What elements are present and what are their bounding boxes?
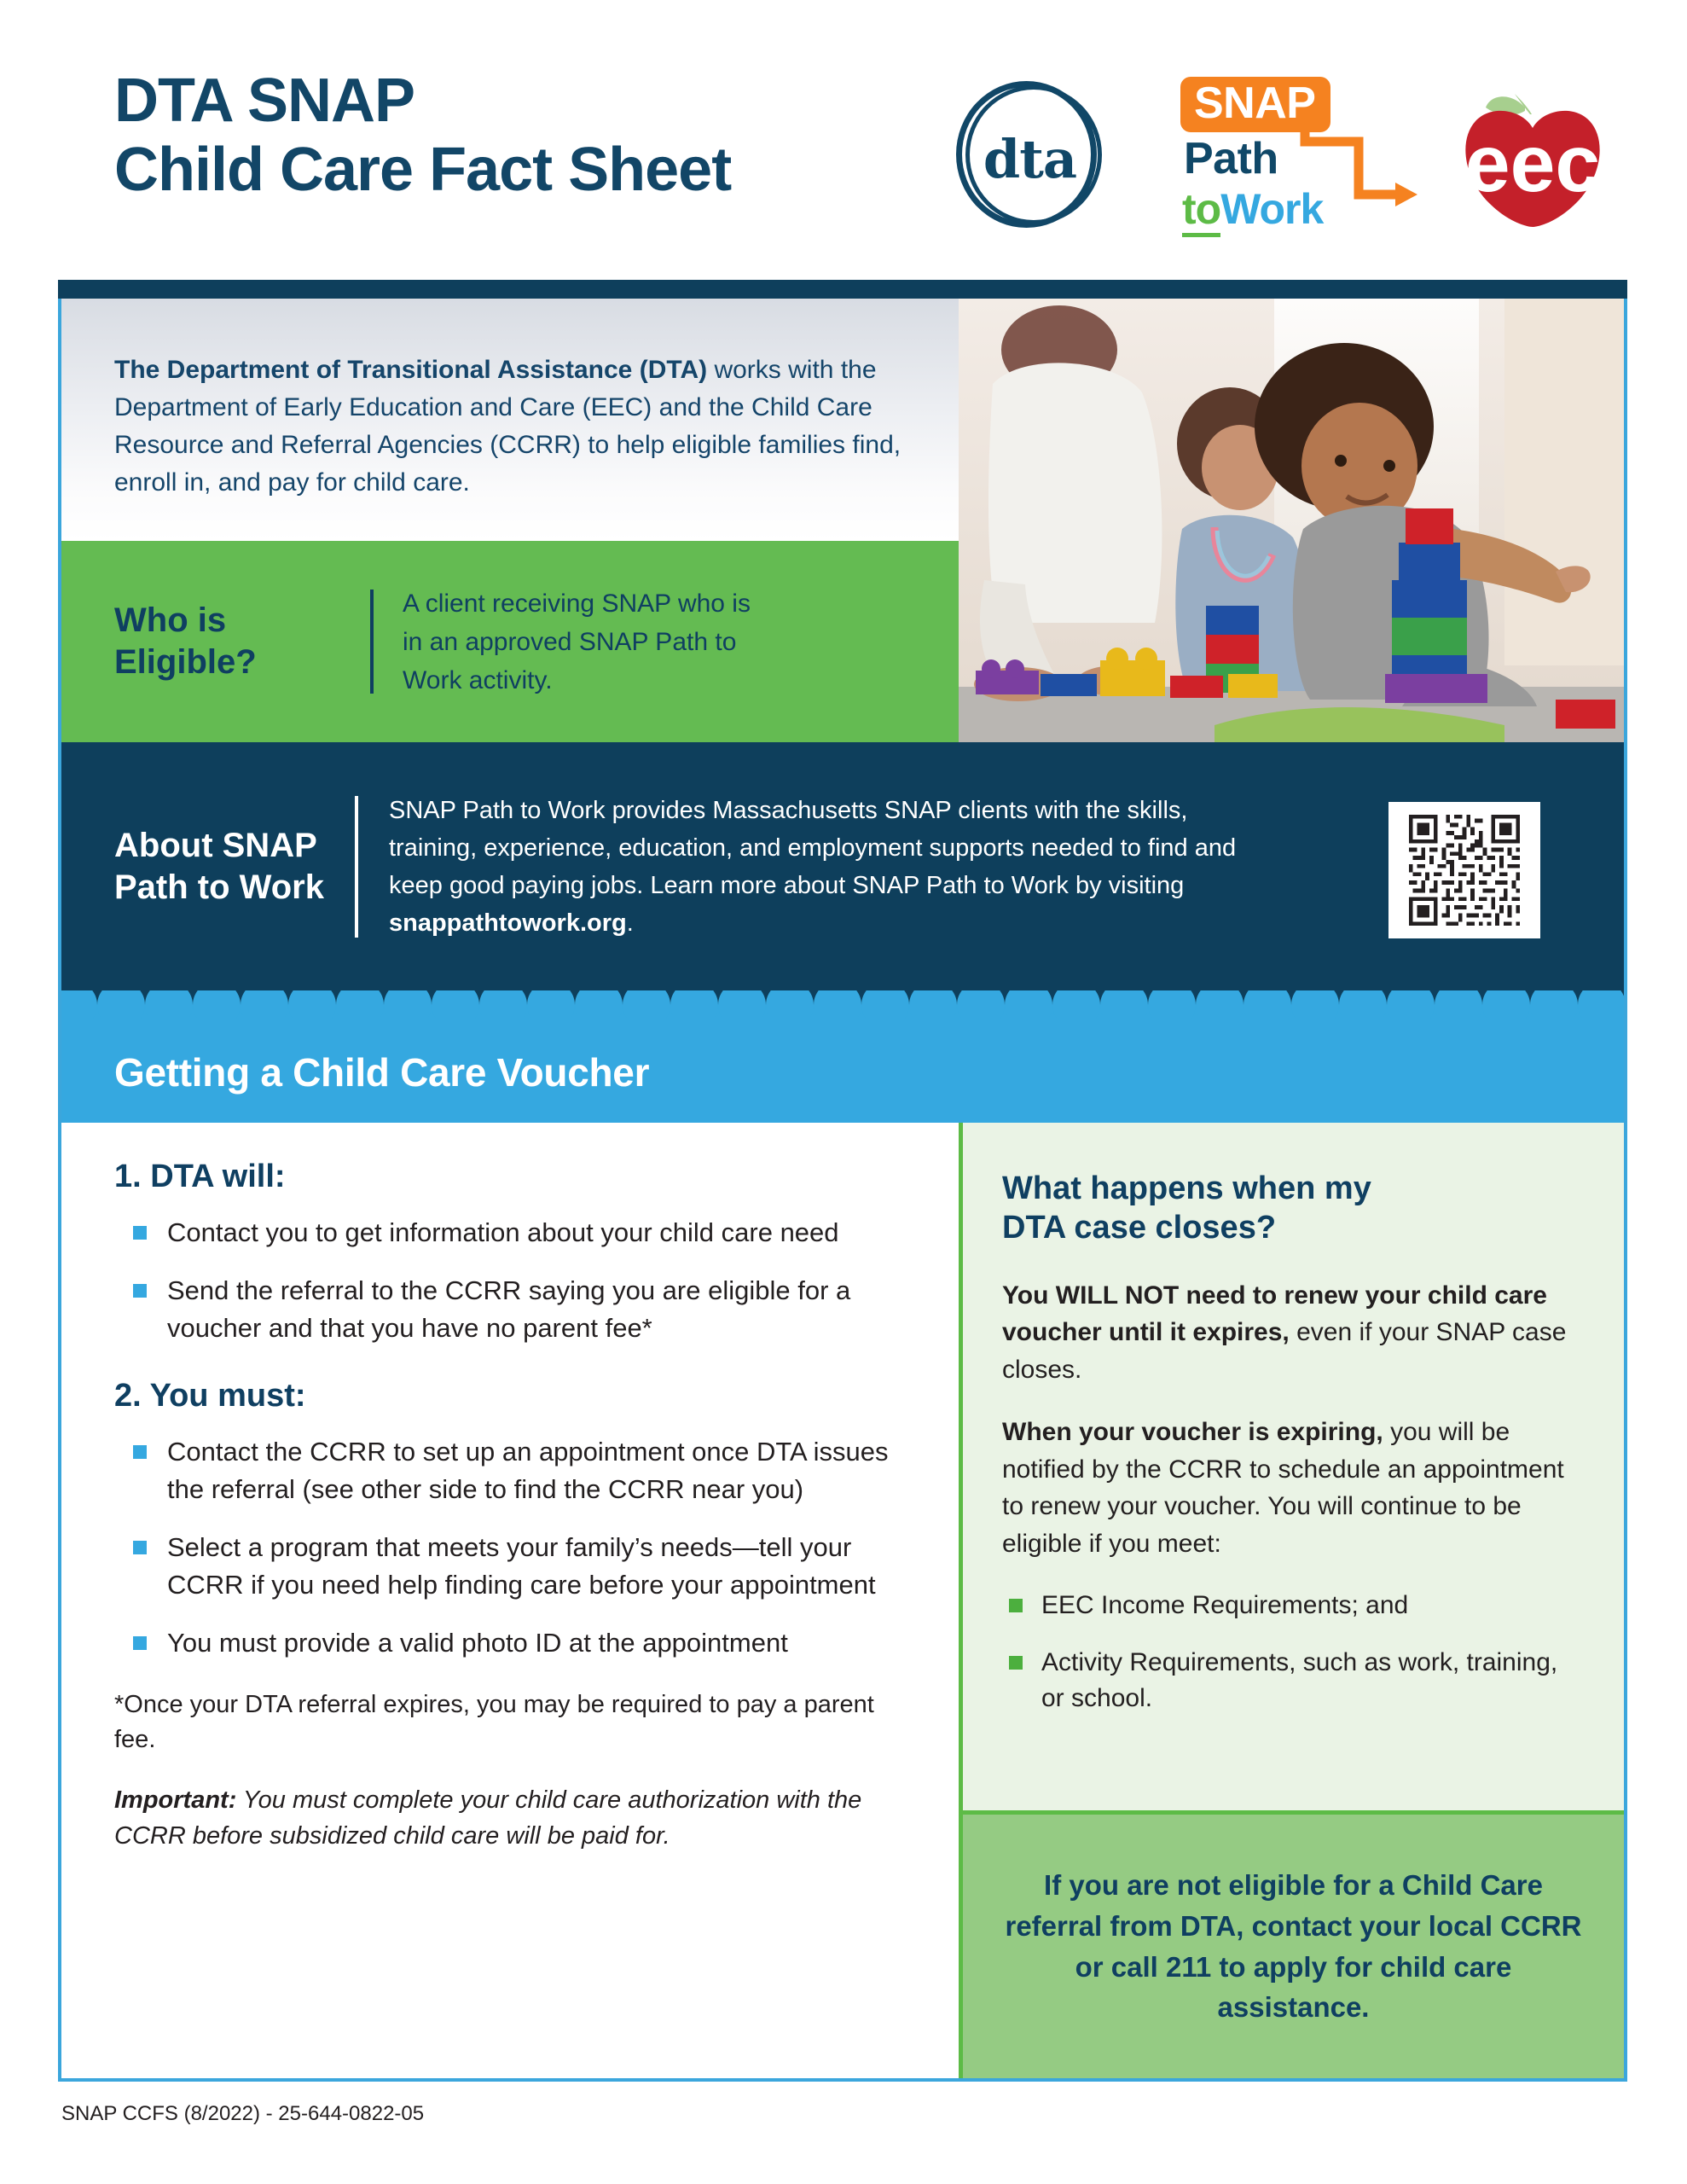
- about-link[interactable]: snappathtowork.org: [389, 909, 627, 937]
- photo-illustration: [959, 299, 1624, 742]
- intro-section: The Department of Transitional Assistanc…: [61, 299, 959, 541]
- title-line-2: Child Care Fact Sheet: [114, 136, 731, 205]
- snap-path-to-work-logo: SNAP Path toWork: [1175, 75, 1423, 237]
- eec-logo: eec: [1441, 77, 1625, 230]
- case-closes-paragraph-1: You WILL NOT need to renew your child ca…: [1002, 1277, 1585, 1389]
- qr-code[interactable]: [1388, 802, 1540, 938]
- page-header: DTA SNAP Child Care Fact Sheet dta SNAP …: [0, 0, 1687, 282]
- document-footer: SNAP CCFS (8/2022) - 25-644-0822-05: [61, 2102, 424, 2126]
- step-1-list: Contact you to get information about you…: [114, 1214, 919, 1347]
- list-item: EEC Income Requirements; and: [1002, 1588, 1585, 1624]
- about-body-before: SNAP Path to Work provides Massachusetts…: [389, 797, 1236, 899]
- list-item-text: Contact the CCRR to set up an appointmen…: [167, 1437, 888, 1504]
- list-item: Send the referral to the CCRR saying you…: [114, 1272, 919, 1347]
- qr-code-image: [1397, 810, 1532, 930]
- list-item-text: Activity Requirements, such as work, tra…: [1041, 1648, 1557, 1713]
- square-bullet-icon: [133, 1541, 147, 1554]
- parent-fee-footnote: *Once your DTA referral expires, you may…: [114, 1687, 919, 1757]
- voucher-banner: Getting a Child Care Voucher: [61, 991, 1624, 1123]
- important-note: Important: You must complete your child …: [114, 1783, 919, 1853]
- list-item: Contact you to get information about you…: [114, 1214, 919, 1252]
- banner-title: Getting a Child Care Voucher: [114, 1049, 649, 1095]
- list-item-text: Select a program that meets your family’…: [167, 1532, 876, 1600]
- who-is-eligible-heading: Who is Eligible?: [114, 600, 370, 683]
- eligible-divider: [370, 590, 374, 694]
- scallop-edge-decoration: [61, 990, 1624, 1019]
- about-divider: [355, 796, 358, 938]
- about-body: SNAP Path to Work provides Massachusetts…: [389, 792, 1267, 942]
- list-item-text: Send the referral to the CCRR saying you…: [167, 1275, 850, 1343]
- list-item-text: EEC Income Requirements; and: [1041, 1591, 1408, 1619]
- children-playing-photo: [959, 299, 1624, 742]
- list-item-text: You must provide a valid photo ID at the…: [167, 1628, 788, 1658]
- list-item: Contact the CCRR to set up an appointmen…: [114, 1433, 919, 1508]
- list-item: You must provide a valid photo ID at the…: [114, 1624, 919, 1662]
- who-is-eligible-body: A client receiving SNAP who is in an app…: [403, 584, 751, 700]
- eec-logo-text: eec: [1465, 119, 1601, 209]
- case-closes-panel: What happens when my DTA case closes? Yo…: [959, 1123, 1624, 1810]
- steps-column: 1. DTA will: Contact you to get informat…: [61, 1123, 959, 2078]
- page-title: DTA SNAP Child Care Fact Sheet: [114, 67, 731, 206]
- about-body-after: .: [627, 909, 634, 937]
- step-2-list: Contact the CCRR to set up an appointmen…: [114, 1433, 919, 1662]
- list-item: Select a program that meets your family’…: [114, 1529, 919, 1604]
- square-bullet-icon: [1009, 1599, 1023, 1612]
- not-eligible-text: If you are not eligible for a Child Care…: [999, 1865, 1588, 2027]
- snap-path-word: Path: [1184, 136, 1278, 181]
- who-is-eligible-section: Who is Eligible? A client receiving SNAP…: [61, 541, 959, 742]
- snap-to-work-words: toWork: [1182, 188, 1323, 230]
- not-eligible-callout: If you are not eligible for a Child Care…: [959, 1810, 1624, 2078]
- important-label: Important:: [114, 1786, 236, 1814]
- about-heading: About SNAP Path to Work: [114, 825, 355, 909]
- snap-work-word: Work: [1220, 185, 1323, 233]
- snap-badge: SNAP: [1180, 77, 1330, 132]
- snap-to-word: to: [1182, 185, 1220, 237]
- eec-apple-icon: eec: [1441, 77, 1625, 230]
- navy-top-bar: [58, 280, 1627, 299]
- case-closes-paragraph-2: When your voucher is expiring, you will …: [1002, 1414, 1585, 1562]
- case-closes-heading: What happens when my DTA case closes?: [1002, 1169, 1585, 1248]
- dta-logo: dta: [951, 81, 1109, 230]
- eligibility-requirements-list: EEC Income Requirements; and Activity Re…: [1002, 1588, 1585, 1717]
- square-bullet-icon: [133, 1636, 147, 1650]
- square-bullet-icon: [133, 1284, 147, 1298]
- step-2-heading: 2. You must:: [114, 1378, 919, 1414]
- square-bullet-icon: [133, 1445, 147, 1459]
- list-item-text: Contact you to get information about you…: [167, 1217, 839, 1247]
- dta-logo-text: dta: [951, 81, 1109, 230]
- intro-lead: The Department of Transitional Assistanc…: [114, 356, 707, 384]
- title-line-1: DTA SNAP: [114, 67, 731, 136]
- step-1-heading: 1. DTA will:: [114, 1159, 919, 1195]
- intro-paragraph: The Department of Transitional Assistanc…: [114, 351, 916, 502]
- list-item: Activity Requirements, such as work, tra…: [1002, 1645, 1585, 1717]
- square-bullet-icon: [1009, 1656, 1023, 1670]
- expiring-bold-text: When your voucher is expiring,: [1002, 1418, 1383, 1446]
- square-bullet-icon: [133, 1226, 147, 1240]
